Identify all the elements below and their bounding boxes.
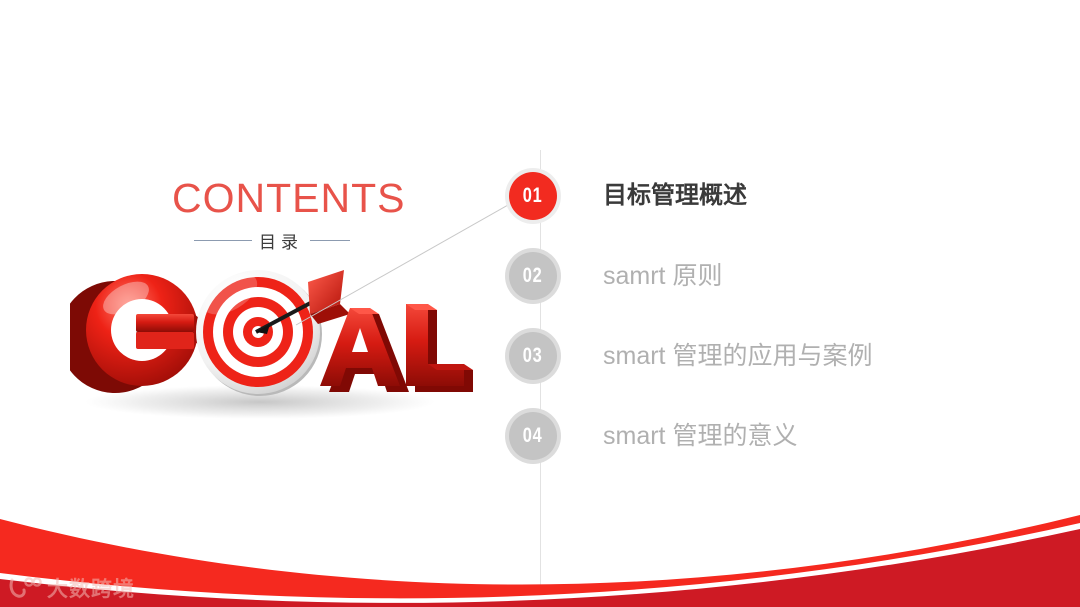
toc-number-02: 02 (523, 264, 543, 288)
goal-artwork (70, 236, 480, 426)
toc-bullet-02[interactable]: 02 (505, 248, 561, 304)
toc-label-01[interactable]: 目标管理概述 (603, 184, 747, 208)
watermark: 大数跨境 (8, 573, 135, 603)
letter-g (70, 274, 204, 393)
toc-item-03[interactable]: 03 smart 管理的应用与案例 (505, 328, 872, 384)
toc-bullet-04[interactable]: 04 (505, 408, 561, 464)
toc-number-01: 01 (523, 184, 543, 208)
slide-canvas: CONTENTS 目录 (0, 0, 1080, 607)
toc-label-03[interactable]: smart 管理的应用与案例 (603, 344, 872, 369)
toc-number-04: 04 (523, 424, 543, 448)
footer-wave-decoration (0, 487, 1080, 607)
page-title: CONTENTS (172, 178, 372, 219)
toc-item-04[interactable]: 04 smart 管理的意义 (505, 408, 797, 464)
toc-item-02[interactable]: 02 samrt 原则 (505, 248, 722, 304)
toc-bullet-03[interactable]: 03 (505, 328, 561, 384)
table-of-contents: 01 目标管理概述 02 samrt 原则 03 smart 管理的应用与案例 (505, 150, 1025, 490)
toc-label-04[interactable]: smart 管理的意义 (603, 424, 797, 449)
watermark-text: 大数跨境 (47, 573, 135, 603)
toc-label-02[interactable]: samrt 原则 (603, 264, 722, 289)
toc-bullet-01[interactable]: 01 (505, 168, 561, 224)
goal-3d-illustration (70, 236, 480, 426)
tuoshu-kuajing-logo-icon (8, 576, 42, 600)
toc-number-03: 03 (523, 344, 543, 368)
letter-l (406, 304, 473, 392)
toc-item-01[interactable]: 01 目标管理概述 (505, 168, 747, 224)
letter-a (320, 308, 409, 392)
